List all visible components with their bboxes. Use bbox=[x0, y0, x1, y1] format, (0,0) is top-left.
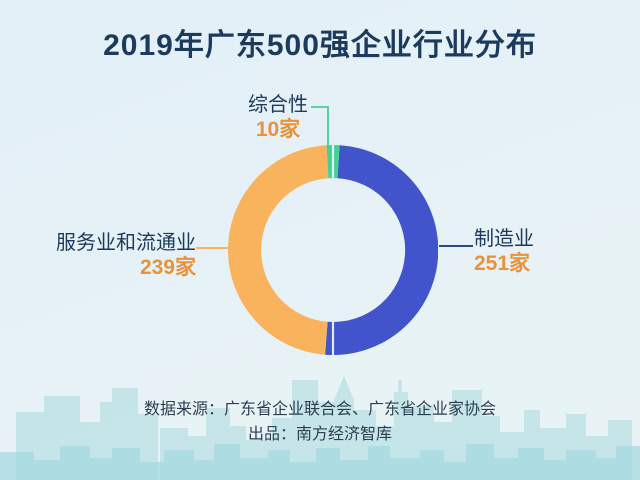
leader-line-manufacturing bbox=[439, 245, 473, 247]
donut-chart bbox=[228, 145, 438, 355]
label-service: 服务业和流通业 239家 bbox=[30, 232, 196, 280]
label-manufacturing: 制造业 251家 bbox=[474, 228, 534, 276]
footer-source-line: 数据来源：广东省企业联合会、广东省企业家协会 bbox=[0, 398, 640, 423]
label-service-value: 239家 bbox=[30, 256, 196, 281]
infographic-canvas: 2019年广东500强企业行业分布 综合性 10家 制造业 251家 服务 bbox=[0, 0, 640, 480]
chart-title: 2019年广东500强企业行业分布 bbox=[0, 20, 640, 64]
label-comprehensive: 综合性 10家 bbox=[238, 94, 318, 142]
label-manufacturing-name: 制造业 bbox=[474, 228, 534, 252]
label-service-name: 服务业和流通业 bbox=[30, 232, 196, 256]
footer-producer-line: 出品：南方经济智库 bbox=[0, 423, 640, 448]
donut-slice-service[interactable] bbox=[228, 145, 328, 354]
label-comprehensive-name: 综合性 bbox=[238, 94, 318, 118]
leader-line-service bbox=[196, 247, 229, 249]
footer-source: 数据来源：广东省企业联合会、广东省企业家协会 出品：南方经济智库 bbox=[0, 398, 640, 448]
label-comprehensive-value: 10家 bbox=[238, 118, 318, 143]
label-manufacturing-value: 251家 bbox=[474, 252, 534, 277]
donut-slice-manufacturing[interactable] bbox=[325, 145, 438, 355]
